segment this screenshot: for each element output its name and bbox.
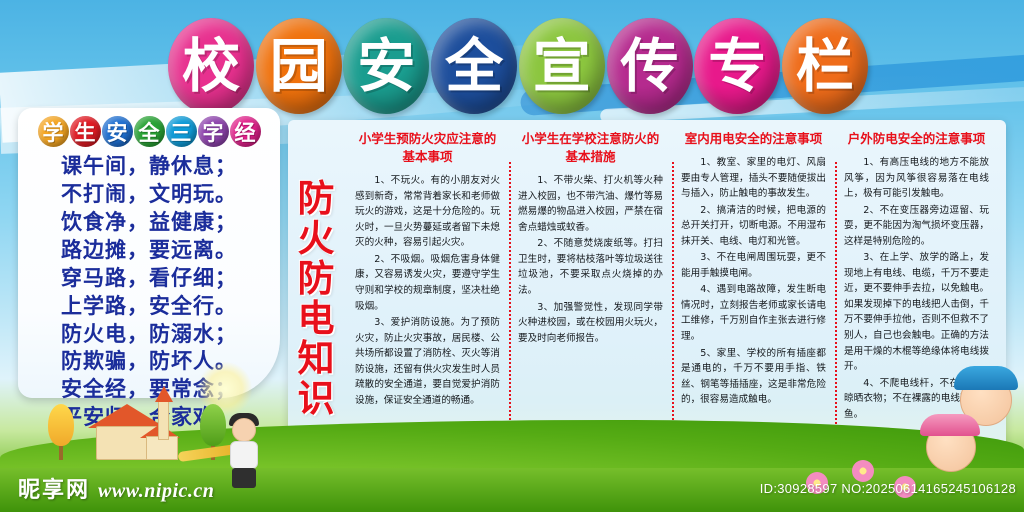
student-safety-card: 学生安全三字经 课午间，静休息；不打闹，文明玩。饮食净，益健康；路边摊，要远离。… xyxy=(18,108,280,398)
column-paragraph: 2、不吸烟。吸烟危害身体健康，又容易诱发火灾，要遵守学生守则和学校的规章制度，坚… xyxy=(355,252,500,314)
vertical-title-char-2: 火 xyxy=(298,220,335,258)
image-id-code: ID:30928597 NO:20250614165245106128 xyxy=(760,481,1016,496)
card-heading-char-2: 生 xyxy=(70,116,101,147)
column-title: 小学生预防火灾应注意的基本事项 xyxy=(355,130,500,166)
column-paragraph: 5、家里、学校的所有插座都是通电的，千万不要用手指、铁丝、钢笔等插插座，这是非常… xyxy=(681,346,826,408)
title-char-3: 安 xyxy=(343,18,429,114)
vertical-title-char-3: 防 xyxy=(298,260,335,298)
site-watermark: 昵享网 www.nipic.cn xyxy=(18,472,214,504)
verse-line: 路边摊，要远离。 xyxy=(28,237,270,265)
column-body: 1、教室、家里的电灯、风扇要由专人管理，插头不要随便拔出与插入，防止触电的事故发… xyxy=(681,155,826,409)
column-paragraph: 1、不带火柴、打火机等火种进入校园，也不带汽油、爆竹等易燃易爆的物品进入校园，严… xyxy=(518,173,663,235)
content-column-1: 小学生预防火灾应注意的基本事项1、不玩火。有的小朋友对火感到新奇，常常背着家长和… xyxy=(346,130,509,464)
verse-line: 上学路，安全行。 xyxy=(28,293,270,321)
card-heading: 学生安全三字经 xyxy=(28,116,270,147)
column-paragraph: 3、加强警觉性，发现同学带火种进校园，或在校园用火玩火，要及时向老师报告。 xyxy=(518,300,663,347)
column-paragraph: 1、教室、家里的电灯、风扇要由专人管理，插头不要随便拔出与插入，防止触电的事故发… xyxy=(681,155,826,202)
verse-line: 不打闹，文明玩。 xyxy=(28,181,270,209)
children-illustration xyxy=(890,374,1020,486)
content-column-3: 室内用电安全的注意事项1、教室、家里的电灯、风扇要由专人管理，插头不要随便拔出与… xyxy=(672,130,835,464)
column-paragraph: 2、不在变压器旁边逗留、玩耍，更不能因为淘气损坏变压器，这样是特别危险的。 xyxy=(844,203,989,250)
column-paragraph: 3、在上学、放学的路上，发现地上有电线、电缆，千万不要走近，更不要伸手去拉，以免… xyxy=(844,250,989,374)
column-title: 室内用电安全的注意事项 xyxy=(681,130,826,148)
column-paragraph: 1、不玩火。有的小朋友对火感到新奇，常常背着家长和老师做玩火的游戏，这是十分危险… xyxy=(355,173,500,251)
content-column-2: 小学生在学校注意防火的基本措施1、不带火柴、打火机等火种进入校园，也不带汽油、爆… xyxy=(509,130,672,464)
title-char-6: 传 xyxy=(607,18,693,114)
card-heading-char-4: 全 xyxy=(134,116,165,147)
verse-line: 穿马路，看仔细； xyxy=(28,265,270,293)
verse-line: 防火电，防溺水； xyxy=(28,321,270,349)
column-title: 小学生在学校注意防火的基本措施 xyxy=(518,130,663,166)
vertical-title-char-1: 防 xyxy=(298,180,335,218)
card-heading-char-7: 经 xyxy=(230,116,261,147)
verse-line: 饮食净，益健康； xyxy=(28,209,270,237)
title-char-5: 宣 xyxy=(519,18,605,114)
column-title: 户外防电安全的注意事项 xyxy=(844,130,989,148)
column-paragraph: 3、不在电闸周围玩耍，更不能用手触摸电闸。 xyxy=(681,250,826,281)
watermark-url-text: www.nipic.cn xyxy=(98,480,214,503)
poster-title: 校园安全宣传专栏 xyxy=(168,16,868,116)
title-char-7: 专 xyxy=(694,18,780,114)
column-paragraph: 2、搞清洁的时候，把电源的总开关打开，切断电源。不用湿布抹开关、电线、电灯和光管… xyxy=(681,203,826,250)
tree-yellow-icon xyxy=(48,404,74,460)
card-heading-char-6: 字 xyxy=(198,116,229,147)
column-body: 1、不玩火。有的小朋友对火感到新奇，常常背着家长和老师做玩火的游戏，这是十分危险… xyxy=(355,173,500,409)
column-paragraph: 1、有高压电线的地方不能放风筝，因为风筝很容易落在电线上，极有可能引发触电。 xyxy=(844,155,989,202)
column-paragraph: 2、不随意焚烧废纸等。打扫卫生时，要将枯枝落叶等垃圾送往垃圾池，不要采取点火烧掉… xyxy=(518,236,663,298)
firefighter-kid-icon xyxy=(222,418,268,490)
card-heading-char-5: 三 xyxy=(166,116,197,147)
vertical-title-char-5: 知 xyxy=(298,340,335,378)
title-char-2: 园 xyxy=(256,18,342,114)
vertical-title-char-6: 识 xyxy=(298,380,335,418)
title-char-1: 校 xyxy=(168,18,254,114)
vertical-title-char-4: 电 xyxy=(298,300,335,338)
card-heading-char-1: 学 xyxy=(38,116,69,147)
house-icon xyxy=(88,398,184,460)
title-char-4: 全 xyxy=(431,18,517,114)
title-char-8: 栏 xyxy=(782,18,868,114)
board-vertical-title: 防火防电知识 xyxy=(288,120,344,472)
card-heading-char-3: 安 xyxy=(102,116,133,147)
column-body: 1、不带火柴、打火机等火种进入校园，也不带汽油、爆竹等易燃易爆的物品进入校园，严… xyxy=(518,173,663,347)
column-paragraph: 3、爱护消防设施。为了预防火灾，防止火灾事故，居民楼、公共场所都设置了消防栓、灭… xyxy=(355,315,500,408)
column-paragraph: 4、遇到电路故障，发生断电情况时，立刻报告老师或家长请电工维修，千万别自作主张去… xyxy=(681,282,826,344)
flower-icon xyxy=(852,460,874,482)
verse-line: 课午间，静休息； xyxy=(28,153,270,181)
watermark-logo-text: 昵享网 xyxy=(18,472,90,504)
poster-canvas: 校园安全宣传专栏 学生安全三字经 课午间，静休息；不打闹，文明玩。饮食净，益健康… xyxy=(0,0,1024,512)
